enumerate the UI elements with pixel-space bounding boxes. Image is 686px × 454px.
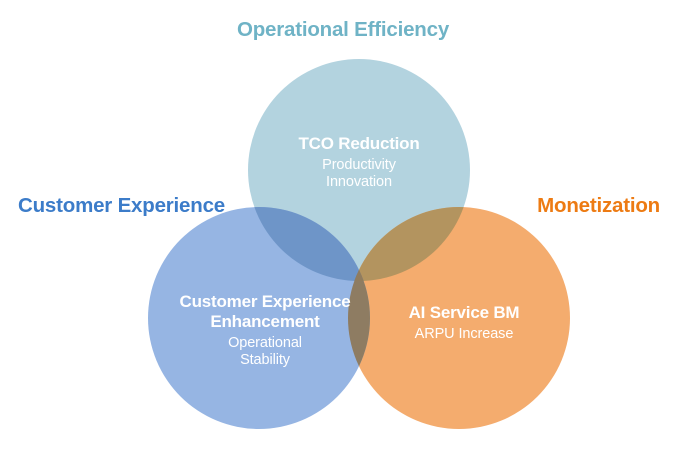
venn-circles-graphic	[0, 0, 686, 454]
label-operational-efficiency: Operational Efficiency	[0, 20, 686, 41]
label-monetization: Monetization	[537, 196, 660, 217]
venn-diagram-canvas: Operational Efficiency Customer Experien…	[0, 0, 686, 454]
label-customer-experience: Customer Experience	[18, 196, 225, 217]
